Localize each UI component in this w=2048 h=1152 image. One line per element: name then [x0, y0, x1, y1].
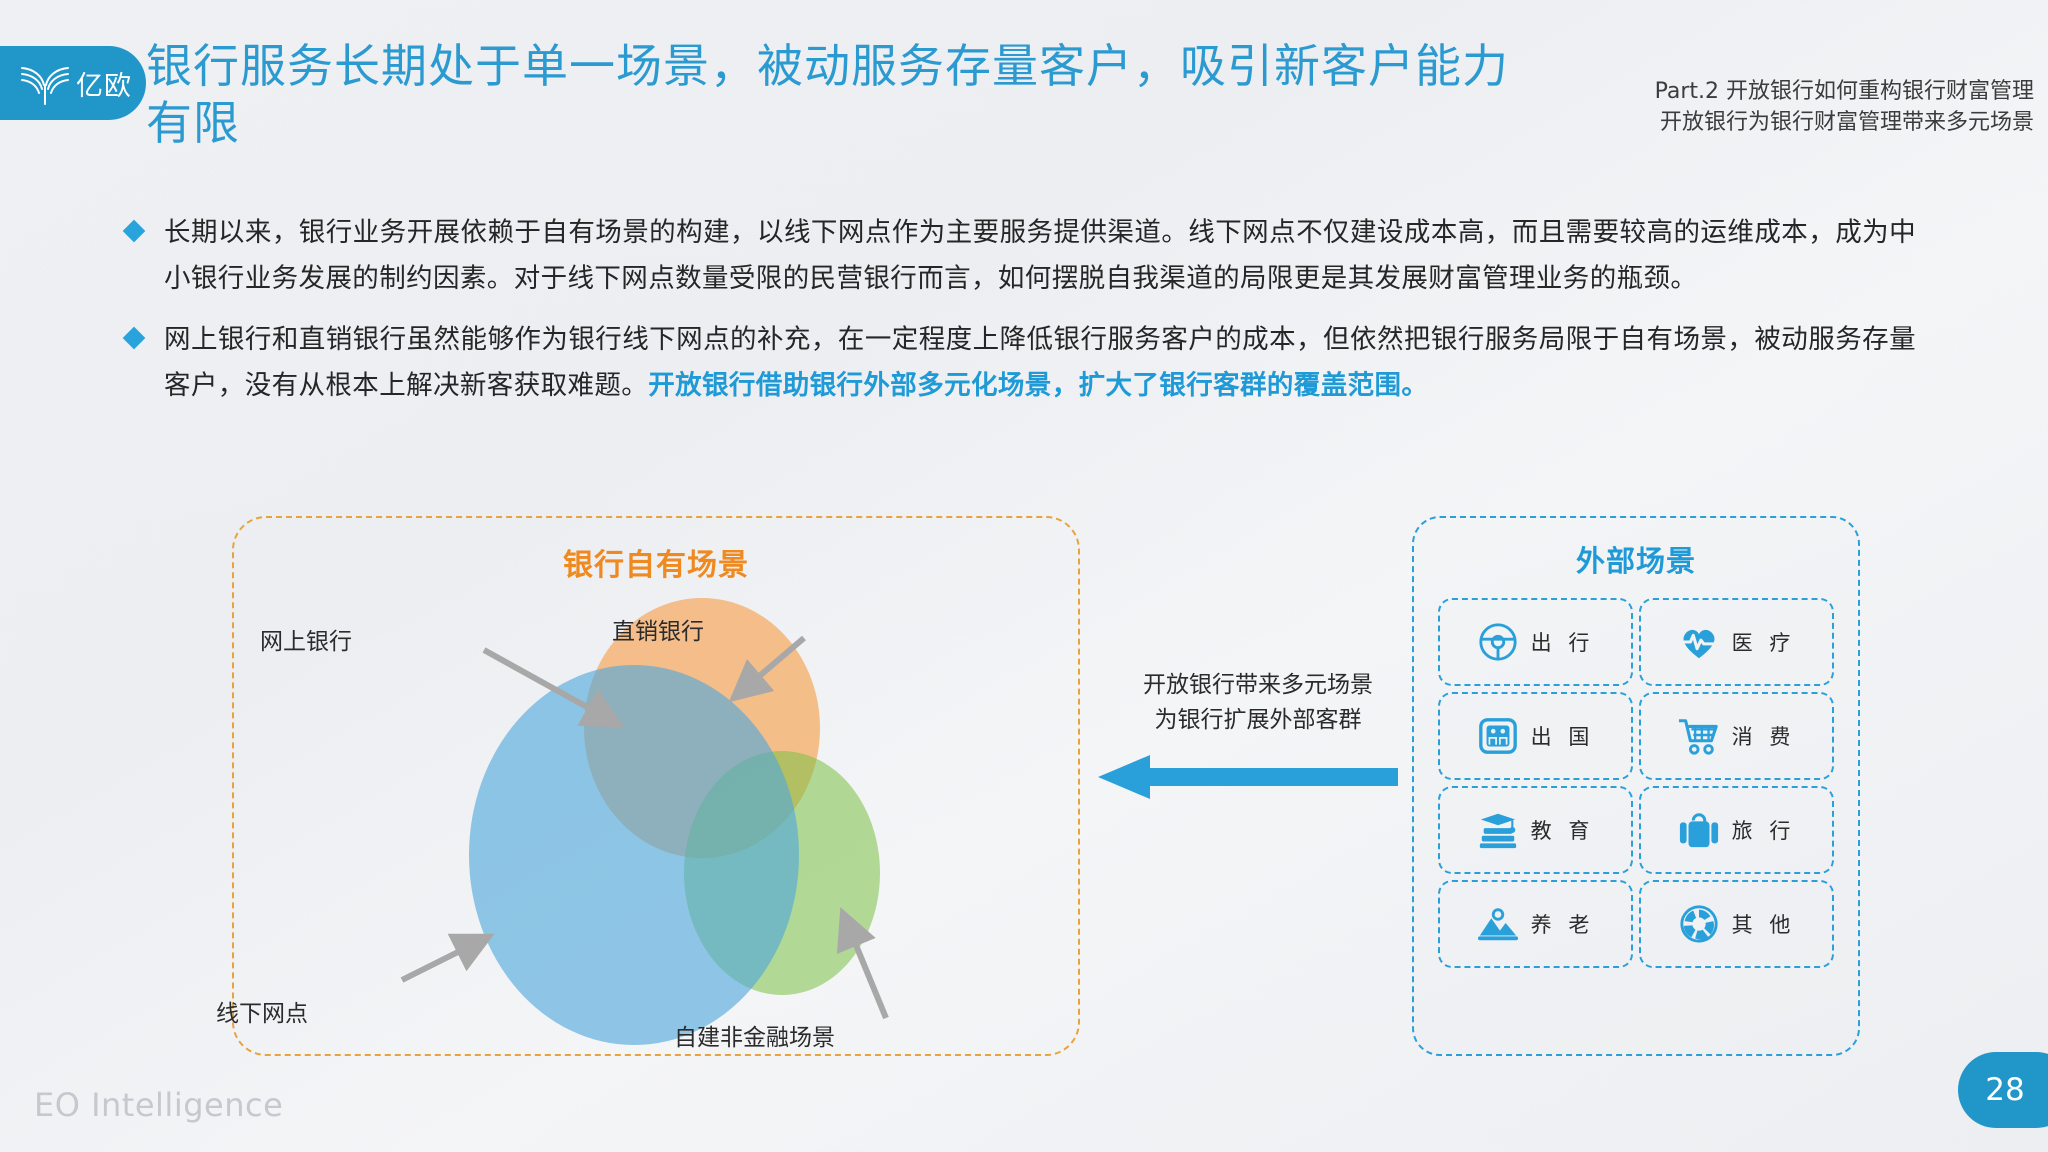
list-item: 长期以来，银行业务开展依赖于自有场景的构建，以线下网点作为主要服务提供渠道。线下… [126, 210, 1916, 301]
scenario-cell-tourism[interactable]: 旅 行 [1639, 786, 1834, 874]
scenario-cell-elderly-care[interactable]: 养 老 [1438, 880, 1633, 968]
bullet-highlight: 开放银行借助银行外部多元化场景，扩大了银行客群的覆盖范围。 [648, 370, 1428, 401]
passport-icon [1477, 715, 1519, 757]
part-subtitle: 开放银行为银行财富管理带来多元场景 [1655, 107, 2034, 138]
section-breadcrumb: Part.2 开放银行如何重构银行财富管理 开放银行为银行财富管理带来多元场景 [1655, 76, 2034, 138]
external-scenario-grid: 出 行 医 疗 出 国 [1438, 598, 1834, 968]
heart-pulse-icon [1678, 621, 1720, 663]
scenario-label: 出 行 [1531, 627, 1595, 657]
bank-own-scenario-panel: 银行自有场景 网上银行 直销银行 线下网点 自建非金融场景 [232, 516, 1080, 1056]
scenario-cell-education[interactable]: 教 育 [1438, 786, 1633, 874]
scenario-label: 养 老 [1531, 909, 1595, 939]
bullet-list: 长期以来，银行业务开展依赖于自有场景的构建，以线下网点作为主要服务提供渠道。线下… [126, 210, 1916, 424]
scenario-cell-travel-commute[interactable]: 出 行 [1438, 598, 1633, 686]
venn-circle-offline [469, 665, 799, 1045]
scenario-cell-other[interactable]: 其 他 [1639, 880, 1834, 968]
scenario-label: 其 他 [1732, 909, 1796, 939]
aperture-icon [1678, 903, 1720, 945]
bullet-text-1: 长期以来，银行业务开展依赖于自有场景的构建，以线下网点作为主要服务提供渠道。线下… [164, 210, 1916, 301]
venn-label-direct-bank: 直销银行 [612, 612, 704, 646]
callout-line-1: 开放银行带来多元场景 [1098, 668, 1418, 703]
scenario-label: 医 疗 [1732, 627, 1796, 657]
luggage-icon [1678, 809, 1720, 851]
scenario-label: 旅 行 [1732, 815, 1796, 845]
scenario-cell-abroad[interactable]: 出 国 [1438, 692, 1633, 780]
scenario-cell-medical[interactable]: 医 疗 [1639, 598, 1834, 686]
venn-label-nonfinancial: 自建非金融场景 [674, 1018, 835, 1052]
external-panel-title: 外部场景 [1414, 538, 1858, 580]
footer-brand: EO Intelligence [34, 1086, 283, 1124]
list-item: 网上银行和直销银行虽然能够作为银行线下网点的补充，在一定程度上降低银行服务客户的… [126, 317, 1916, 408]
page-number: 28 [1985, 1072, 2024, 1108]
scenario-label: 教 育 [1531, 815, 1595, 845]
left-arrow-icon [1098, 755, 1398, 799]
eo-logo-icon [18, 59, 72, 107]
scenario-label: 出 国 [1531, 721, 1595, 751]
part-label: Part.2 开放银行如何重构银行财富管理 [1655, 76, 2034, 107]
transition-callout: 开放银行带来多元场景 为银行扩展外部客群 [1098, 668, 1418, 804]
external-scenario-panel: 外部场景 出 行 医 疗 出 国 [1412, 516, 1860, 1056]
scenario-cell-consumption[interactable]: 消 费 [1639, 692, 1834, 780]
callout-line-2: 为银行扩展外部客群 [1098, 703, 1418, 738]
scenario-label: 消 费 [1732, 721, 1796, 751]
page-number-badge: 28 [1958, 1052, 2048, 1128]
venn-label-online-bank: 网上银行 [260, 622, 352, 656]
brand-logo-text: 亿欧 [76, 64, 132, 103]
diamond-bullet-icon [123, 327, 146, 350]
venn-label-offline-branch: 线下网点 [216, 994, 308, 1028]
venn-diagram [234, 518, 1082, 1058]
mountain-sunrise-icon [1477, 903, 1519, 945]
bullet-text-2: 网上银行和直销银行虽然能够作为银行线下网点的补充，在一定程度上降低银行服务客户的… [164, 317, 1916, 408]
graduation-books-icon [1477, 809, 1519, 851]
page-title: 银行服务长期处于单一场景，被动服务存量客户，吸引新客户能力有限 [146, 38, 1536, 152]
shopping-cart-icon [1678, 715, 1720, 757]
brand-logo-pill: 亿欧 [0, 46, 146, 120]
leader-line-offline-branch [402, 938, 486, 980]
diamond-bullet-icon [123, 220, 146, 243]
steering-wheel-icon [1477, 621, 1519, 663]
